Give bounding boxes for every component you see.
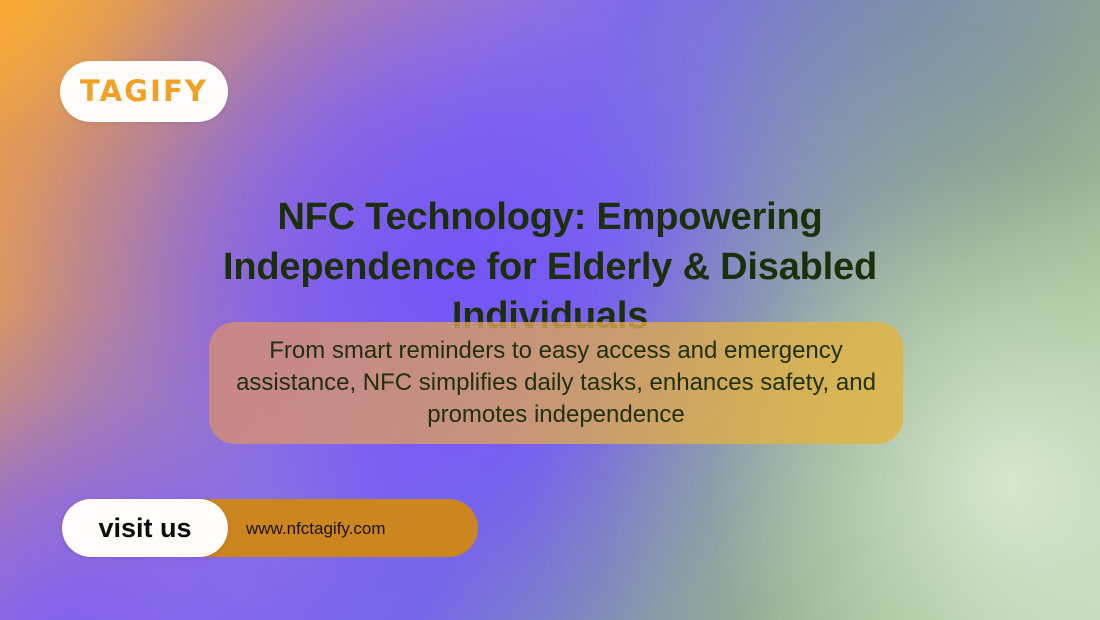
brand-logo-text: TAGIFY [80, 77, 208, 106]
subtitle-text: From smart reminders to easy access and … [235, 335, 877, 431]
subtitle-card: From smart reminders to easy access and … [209, 322, 903, 444]
visit-us-bar[interactable]: visit us www.nfctagify.com [62, 499, 478, 557]
brand-logo[interactable]: TAGIFY [60, 61, 228, 122]
website-url-text[interactable]: www.nfctagify.com [246, 520, 386, 537]
visit-us-button-label: visit us [98, 515, 191, 542]
page-title: NFC Technology: Empowering Independence … [190, 193, 910, 341]
promo-banner: TAGIFY NFC Technology: Empowering Indepe… [0, 0, 1100, 620]
banner-content: TAGIFY NFC Technology: Empowering Indepe… [0, 0, 1100, 620]
visit-us-button[interactable]: visit us [62, 499, 228, 557]
